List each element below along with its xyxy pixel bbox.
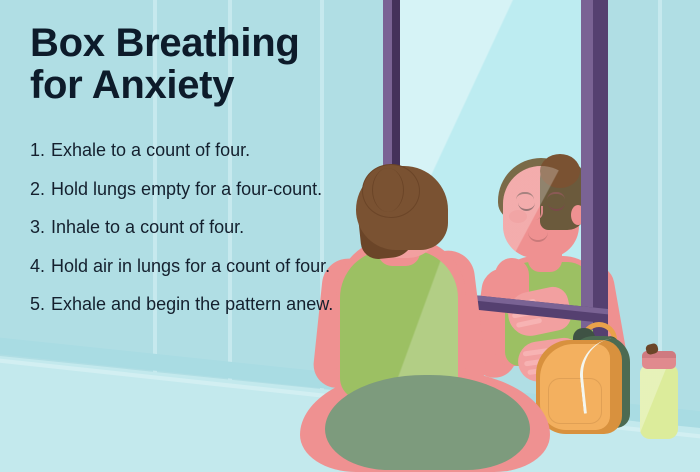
step-text: Inhale to a count of four.	[51, 217, 350, 239]
figure-shorts	[325, 375, 530, 470]
list-item: 3. Inhale to a count of four.	[30, 217, 350, 239]
mirror-frame-right-light	[581, 0, 593, 330]
water-bottle-highlight	[640, 365, 678, 439]
step-number: 3.	[30, 217, 51, 239]
list-item: 2. Hold lungs empty for a four-count.	[30, 179, 350, 201]
mirror-frame-right-dark	[593, 0, 608, 346]
list-item: 1. Exhale to a count of four.	[30, 140, 350, 162]
title-line-1: Box Breathing	[30, 22, 370, 64]
reflection-face-highlight	[503, 166, 579, 258]
step-number: 1.	[30, 140, 51, 162]
finger	[516, 318, 542, 328]
page-title: Box Breathing for Anxiety	[30, 22, 370, 107]
list-item: 4. Hold air in lungs for a count of four…	[30, 256, 350, 278]
figure-hair-bun-detail	[372, 168, 404, 212]
list-item: 5. Exhale and begin the pattern anew.	[30, 294, 350, 316]
step-number: 5.	[30, 294, 51, 316]
title-line-2: for Anxiety	[30, 64, 370, 106]
step-text: Exhale and begin the pattern anew.	[51, 294, 350, 316]
step-number: 2.	[30, 179, 51, 201]
step-text: Exhale to a count of four.	[51, 140, 350, 162]
steps-list: 1. Exhale to a count of four. 2. Hold lu…	[30, 140, 350, 333]
step-number: 4.	[30, 256, 51, 278]
step-text: Hold lungs empty for a four-count.	[51, 179, 350, 201]
step-text: Hold air in lungs for a count of four.	[51, 256, 350, 278]
infographic-poster: Box Breathing for Anxiety 1. Exhale to a…	[0, 0, 700, 472]
